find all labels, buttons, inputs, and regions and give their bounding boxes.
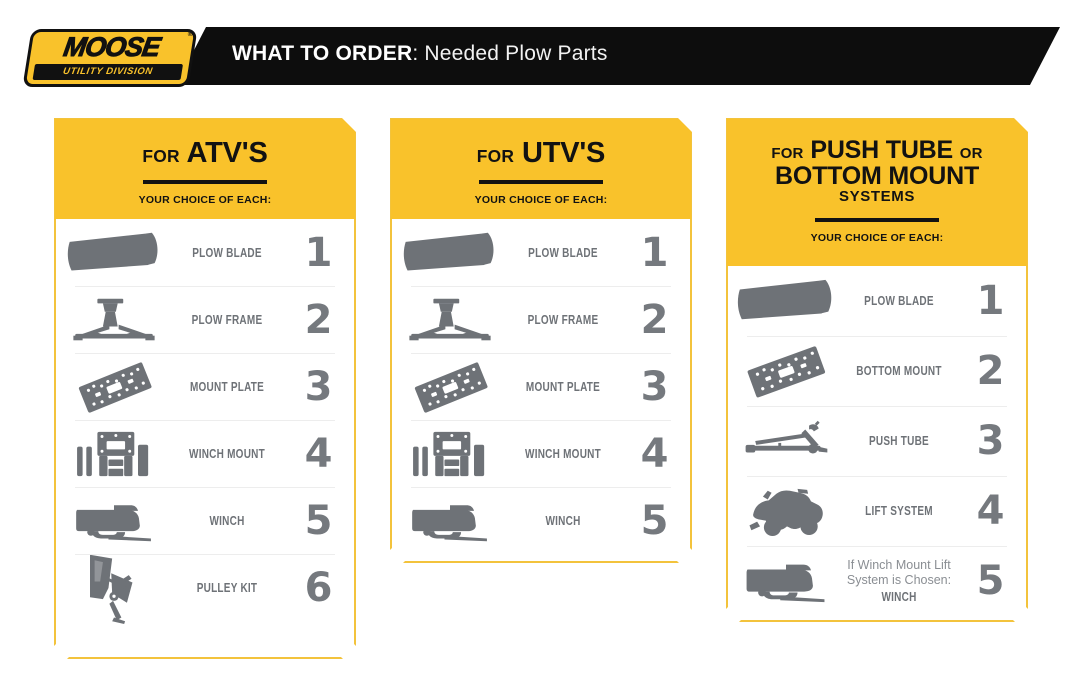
table-row[interactable]: PLOW BLADE1 [727, 266, 1027, 336]
row-number: 5 [953, 561, 1027, 601]
row-label: LIFT SYSTEM [856, 504, 942, 518]
row-label: WINCH [520, 514, 606, 528]
row-separator [747, 406, 1007, 407]
table-row[interactable]: WINCH5 [55, 487, 355, 554]
row-label: PLOW BLADE [184, 246, 270, 260]
row-separator [411, 353, 671, 354]
card-atv-header: FOR ATV'S YOUR CHOICE OF EACH: [55, 119, 355, 219]
table-row[interactable]: WINCH MOUNT4 [55, 420, 355, 487]
page-title-light: : Needed Plow Parts [412, 42, 607, 65]
winch-icon [391, 499, 509, 543]
card-push-tube-title-line1: FOR PUSH TUBE OR [727, 137, 1027, 163]
row-label: BOTTOM MOUNT [856, 364, 942, 378]
row-label-text: MOUNT PLATE [526, 380, 600, 394]
card-atv-rows: PLOW BLADE1 PLOW FRAME2 [55, 219, 355, 621]
winch-mount-icon [55, 426, 173, 482]
row-label-text: WINCH [545, 514, 580, 528]
row-label-text: WINCH MOUNT [189, 447, 265, 461]
row-number: 4 [281, 434, 355, 474]
mount-plate-icon [391, 357, 509, 417]
row-number: 1 [617, 233, 691, 273]
plow-blade-icon [727, 278, 845, 324]
card-push-tube-title-main: PUSH TUBE [810, 136, 953, 164]
card-atv: FOR ATV'S YOUR CHOICE OF EACH: PLOW BLAD… [54, 118, 356, 659]
row-number: 2 [617, 300, 691, 340]
table-row[interactable]: PLOW BLADE1 [391, 219, 691, 286]
card-utv-title: FOR UTV'S [391, 119, 691, 168]
row-separator [75, 554, 335, 555]
logo-inner: MOOSE UTILITY DIVISION ® [22, 29, 197, 87]
registered-trademark-icon: ® [187, 31, 193, 38]
card-push-tube-header: FOR PUSH TUBE OR BOTTOM MOUNT SYSTEMS YO… [727, 119, 1027, 266]
row-separator [747, 336, 1007, 337]
bottom-mount-icon [727, 341, 845, 401]
mount-plate-icon [55, 357, 173, 417]
card-utv-title-main: UTV'S [522, 137, 605, 169]
card-atv-divider [143, 180, 267, 184]
row-separator [411, 420, 671, 421]
row-label-text: PUSH TUBE [869, 434, 929, 448]
row-label-text: WINCH MOUNT [525, 447, 601, 461]
pulley-kit-icon [55, 548, 173, 628]
card-push-tube-title-conj: OR [960, 145, 983, 162]
card-push-tube-rows: PLOW BLADE1 BOTTOM MOUNT2 [727, 266, 1027, 616]
row-number: 5 [617, 501, 691, 541]
page-title: WHAT TO ORDER: Needed Plow Parts [232, 42, 608, 66]
card-push-tube-title: FOR PUSH TUBE OR BOTTOM MOUNT SYSTEMS [727, 119, 1027, 205]
card-atv-title: FOR ATV'S [55, 119, 355, 168]
row-label: PULLEY KIT [184, 581, 270, 595]
table-row[interactable]: PLOW FRAME2 [55, 286, 355, 353]
card-utv-header: FOR UTV'S YOUR CHOICE OF EACH: [391, 119, 691, 219]
row-label: PLOW FRAME [184, 313, 270, 327]
table-row[interactable]: PULLEY KIT6 [55, 554, 355, 621]
table-row[interactable]: WINCH MOUNT4 [391, 420, 691, 487]
page-title-strong: WHAT TO ORDER [232, 42, 412, 65]
row-number: 5 [281, 501, 355, 541]
row-number: 3 [617, 367, 691, 407]
row-label-text: PLOW BLADE [864, 294, 934, 308]
card-utv: FOR UTV'S YOUR CHOICE OF EACH: PLOW BLAD… [390, 118, 692, 563]
table-row[interactable]: MOUNT PLATE3 [55, 353, 355, 420]
row-label: WINCH [184, 514, 270, 528]
row-label: If Winch Mount Lift System is Chosen:WIN… [856, 558, 942, 604]
row-label-text: WINCH [881, 590, 916, 604]
table-row[interactable]: If Winch Mount Lift System is Chosen:WIN… [727, 546, 1027, 616]
card-atv-title-prefix: FOR [142, 146, 179, 166]
winch-icon [727, 559, 845, 603]
row-separator [411, 487, 671, 488]
plow-frame-icon [55, 295, 173, 345]
winch-icon [55, 499, 173, 543]
row-label: WINCH MOUNT [520, 447, 606, 461]
row-label: PLOW FRAME [520, 313, 606, 327]
page-header: MOOSE UTILITY DIVISION ® WHAT TO ORDER: … [0, 0, 1080, 96]
card-push-tube-title-line2: BOTTOM MOUNT [727, 163, 1027, 189]
row-number: 2 [281, 300, 355, 340]
row-label-text: PLOW BLADE [528, 246, 598, 260]
plow-blade-icon [55, 230, 173, 276]
lift-system-icon [727, 482, 845, 540]
row-label-text: LIFT SYSTEM [865, 504, 933, 518]
row-label: MOUNT PLATE [520, 380, 606, 394]
card-push-tube-title-prefix: FOR [771, 145, 803, 162]
card-atv-subtitle: YOUR CHOICE OF EACH: [55, 194, 355, 206]
row-separator [75, 487, 335, 488]
logo-subtitle: UTILITY DIVISION [33, 64, 184, 80]
row-label: PUSH TUBE [856, 434, 942, 448]
winch-mount-icon [391, 426, 509, 482]
card-push-tube-divider [815, 218, 939, 222]
row-label-text: PLOW BLADE [192, 246, 262, 260]
card-push-tube: FOR PUSH TUBE OR BOTTOM MOUNT SYSTEMS YO… [726, 118, 1028, 622]
row-label-text: PLOW FRAME [192, 313, 263, 327]
card-utv-divider [479, 180, 603, 184]
row-separator [747, 476, 1007, 477]
row-number: 3 [281, 367, 355, 407]
card-push-tube-title-line3: SYSTEMS [727, 189, 1027, 205]
table-row[interactable]: BOTTOM MOUNT2 [727, 336, 1027, 406]
row-label-note: If Winch Mount Lift System is Chosen: [845, 558, 953, 587]
push-tube-icon [727, 419, 845, 463]
row-label-text: BOTTOM MOUNT [856, 364, 941, 378]
card-atv-title-main: ATV'S [187, 137, 268, 169]
row-label: WINCH MOUNT [184, 447, 270, 461]
row-label: PLOW BLADE [520, 246, 606, 260]
row-separator [75, 353, 335, 354]
row-label-text: MOUNT PLATE [190, 380, 264, 394]
card-push-tube-subtitle: YOUR CHOICE OF EACH: [727, 232, 1027, 244]
card-utv-subtitle: YOUR CHOICE OF EACH: [391, 194, 691, 206]
table-row[interactable]: PLOW BLADE1 [55, 219, 355, 286]
table-row[interactable]: MOUNT PLATE3 [391, 353, 691, 420]
moose-utility-division-logo: MOOSE UTILITY DIVISION ® [27, 29, 193, 87]
card-utv-title-prefix: FOR [477, 146, 514, 166]
row-label-text: PLOW FRAME [528, 313, 599, 327]
table-row[interactable]: PUSH TUBE3 [727, 406, 1027, 476]
row-number: 2 [953, 351, 1027, 391]
table-row[interactable]: LIFT SYSTEM4 [727, 476, 1027, 546]
table-row[interactable]: PLOW FRAME2 [391, 286, 691, 353]
row-separator [75, 420, 335, 421]
row-number: 6 [281, 568, 355, 608]
row-separator [411, 286, 671, 287]
row-label: MOUNT PLATE [184, 380, 270, 394]
row-number: 1 [953, 281, 1027, 321]
row-label-text: WINCH [209, 514, 244, 528]
card-utv-rows: PLOW BLADE1 PLOW FRAME2 [391, 219, 691, 554]
plow-frame-icon [391, 295, 509, 345]
table-row[interactable]: WINCH5 [391, 487, 691, 554]
row-separator [747, 546, 1007, 547]
row-number: 4 [617, 434, 691, 474]
row-number: 1 [281, 233, 355, 273]
row-label-text: PULLEY KIT [197, 581, 258, 595]
logo-wordmark: MOOSE [26, 32, 197, 63]
plow-blade-icon [391, 230, 509, 276]
row-number: 4 [953, 491, 1027, 531]
row-separator [75, 286, 335, 287]
row-label: PLOW BLADE [856, 294, 942, 308]
row-number: 3 [953, 421, 1027, 461]
